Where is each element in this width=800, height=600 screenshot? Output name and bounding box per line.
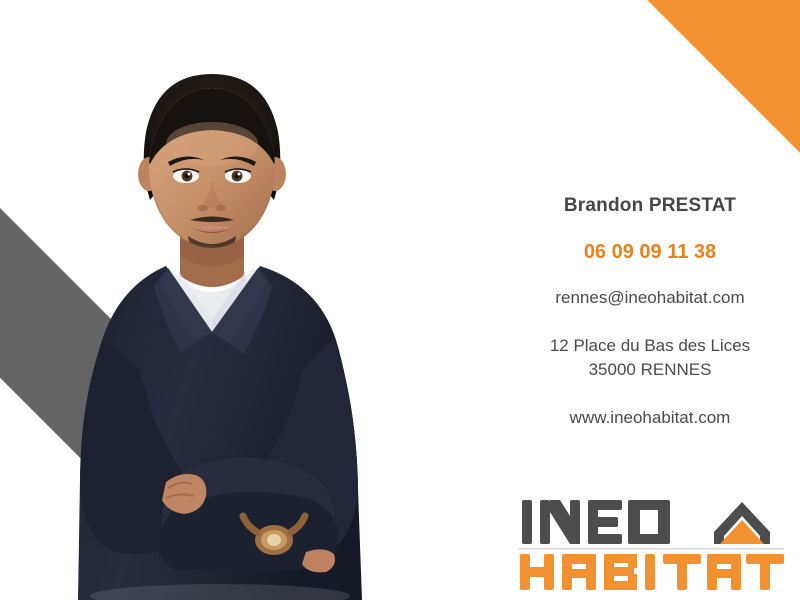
contact-email[interactable]: rennes@ineohabitat.com — [500, 289, 800, 308]
orange-diagonal-band-right — [572, 0, 800, 221]
business-card: Photo de Brandon PRESTAT, costume bleu m… — [0, 0, 800, 600]
logo-divider — [518, 548, 784, 550]
portrait-illustration: Photo de Brandon PRESTAT, costume bleu m… — [62, 40, 502, 600]
contact-website[interactable]: www.ineohabitat.com — [500, 409, 800, 428]
contact-phone[interactable]: 06 09 09 11 38 — [500, 241, 800, 263]
contact-address: 12 Place du Bas des Lices 35000 RENNES — [500, 334, 800, 383]
address-line-1: 12 Place du Bas des Lices — [500, 334, 800, 359]
contact-info: Brandon PRESTAT 06 09 09 11 38 rennes@in… — [500, 196, 800, 428]
logo-artwork — [518, 492, 784, 592]
contact-name: Brandon PRESTAT — [500, 196, 800, 217]
logo-word-habitat — [520, 554, 784, 590]
grey-diagonal-band-right — [564, 0, 800, 205]
logo-word-ineo — [522, 500, 670, 544]
house-roof-icon — [714, 502, 770, 544]
portrait-photo: Photo de Brandon PRESTAT, costume bleu m… — [62, 40, 502, 600]
ineo-habitat-logo — [518, 492, 784, 592]
address-line-2: 35000 RENNES — [500, 358, 800, 383]
